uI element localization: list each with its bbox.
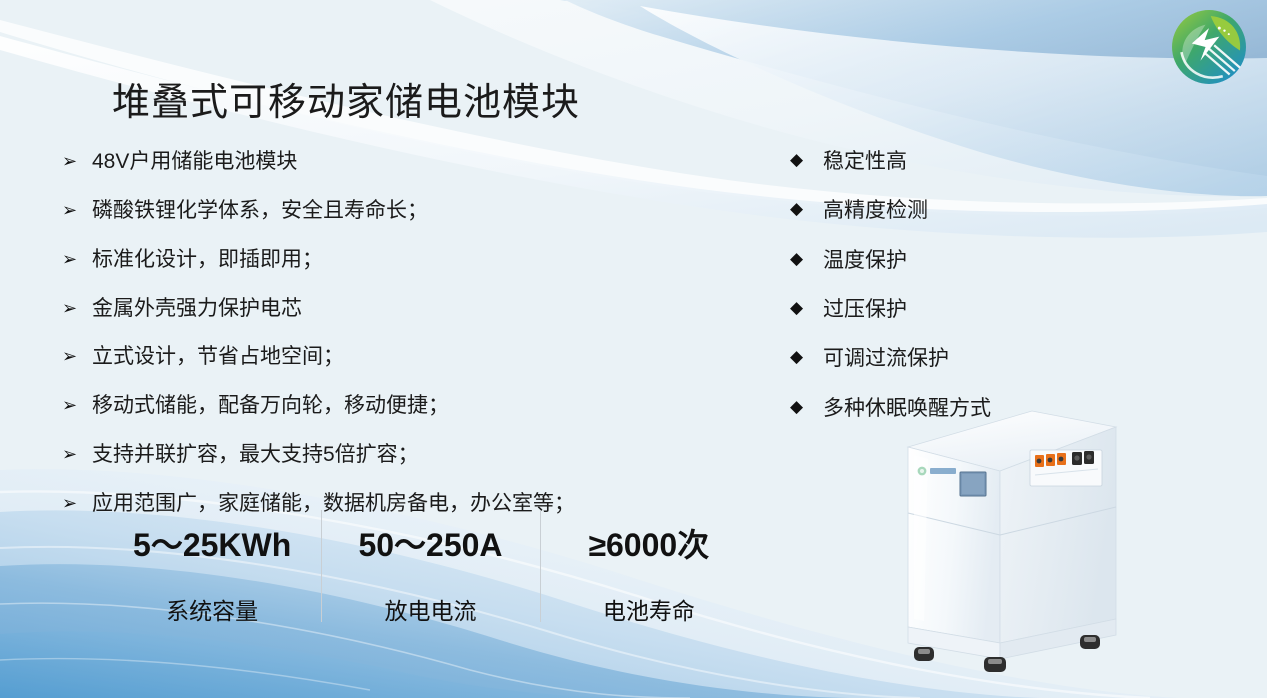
list-item-label: 金属外壳强力保护电芯 [92,295,702,323]
arrow-bullet-icon: ➢ [62,197,92,223]
list-item: ◆ 温度保护 [790,247,1090,275]
arrow-bullet-icon: ➢ [62,148,92,174]
arrow-bullet-icon: ➢ [62,441,92,467]
list-item-label: 移动式储能，配备万向轮，移动便捷； [92,392,702,420]
list-item: ◆ 稳定性高 [790,148,1090,176]
list-item: ➢ 标准化设计，即插即用； [62,246,702,274]
arrow-bullet-icon: ➢ [62,246,92,272]
list-item-label: 温度保护 [823,247,1090,275]
arrow-bullet-icon: ➢ [62,295,92,321]
list-item: ◆ 高精度检测 [790,197,1090,225]
diamond-bullet-icon: ◆ [790,395,823,420]
stat-capacity: 5～25KWh 系统容量 [103,508,321,624]
stat-value: 5～25KWh [133,520,291,566]
list-item: ➢ 移动式储能，配备万向轮，移动便捷； [62,392,702,420]
page-title: 堆叠式可移动家储电池模块 [112,80,580,128]
list-item-label: 标准化设计，即插即用； [92,246,702,274]
stat-cycle-life: ≥6000次 电池寿命 [540,508,758,624]
stat-label: 放电电流 [384,592,476,626]
list-item: ➢ 48V户用储能电池模块 [62,148,702,176]
list-item: ◆ 过压保护 [790,296,1090,324]
diamond-bullet-icon: ◆ [790,345,823,370]
company-logo [1166,4,1252,90]
list-item-label: 48V户用储能电池模块 [92,148,702,176]
arrow-bullet-icon: ➢ [62,343,92,369]
features-bullet-list: ➢ 48V户用储能电池模块 ➢ 磷酸铁锂化学体系，安全且寿命长； ➢ 标准化设计… [62,148,702,539]
list-item-label: 稳定性高 [823,148,1090,176]
stat-label: 系统容量 [166,592,258,626]
stat-value: ≥6000次 [588,520,709,566]
list-item-label: 可调过流保护 [823,345,1090,373]
list-item: ➢ 磷酸铁锂化学体系，安全且寿命长； [62,197,702,225]
stat-value: 50～250A [358,520,502,566]
list-item-label: 过压保护 [823,296,1090,324]
diamond-bullet-icon: ◆ [790,296,823,321]
key-specs-strip: 5～25KWh 系统容量 50～250A 放电电流 ≥6000次 电池寿命 [103,508,758,624]
list-item: ➢ 立式设计，节省占地空间； [62,343,702,371]
list-item: ➢ 金属外壳强力保护电芯 [62,295,702,323]
arrow-bullet-icon: ➢ [62,490,92,516]
list-item-label: 支持并联扩容，最大支持5倍扩容； [92,441,702,469]
list-item: ◆ 可调过流保护 [790,345,1090,373]
list-item: ➢ 支持并联扩容，最大支持5倍扩容； [62,441,702,469]
product-image-battery-cabinet [884,395,1134,680]
list-item-label: 立式设计，节省占地空间； [92,343,702,371]
list-item-label: 磷酸铁锂化学体系，安全且寿命长； [92,197,702,225]
arrow-bullet-icon: ➢ [62,392,92,418]
diamond-bullet-icon: ◆ [790,247,823,272]
stat-discharge-current: 50～250A 放电电流 [321,508,539,624]
diamond-bullet-icon: ◆ [790,197,823,222]
list-item-label: 高精度检测 [823,197,1090,225]
stat-label: 电池寿命 [603,592,695,626]
slide-root: 堆叠式可移动家储电池模块 ➢ 48V户用储能电池模块 ➢ 磷酸铁锂化学体系，安全… [0,0,1267,698]
diamond-bullet-icon: ◆ [790,148,823,173]
